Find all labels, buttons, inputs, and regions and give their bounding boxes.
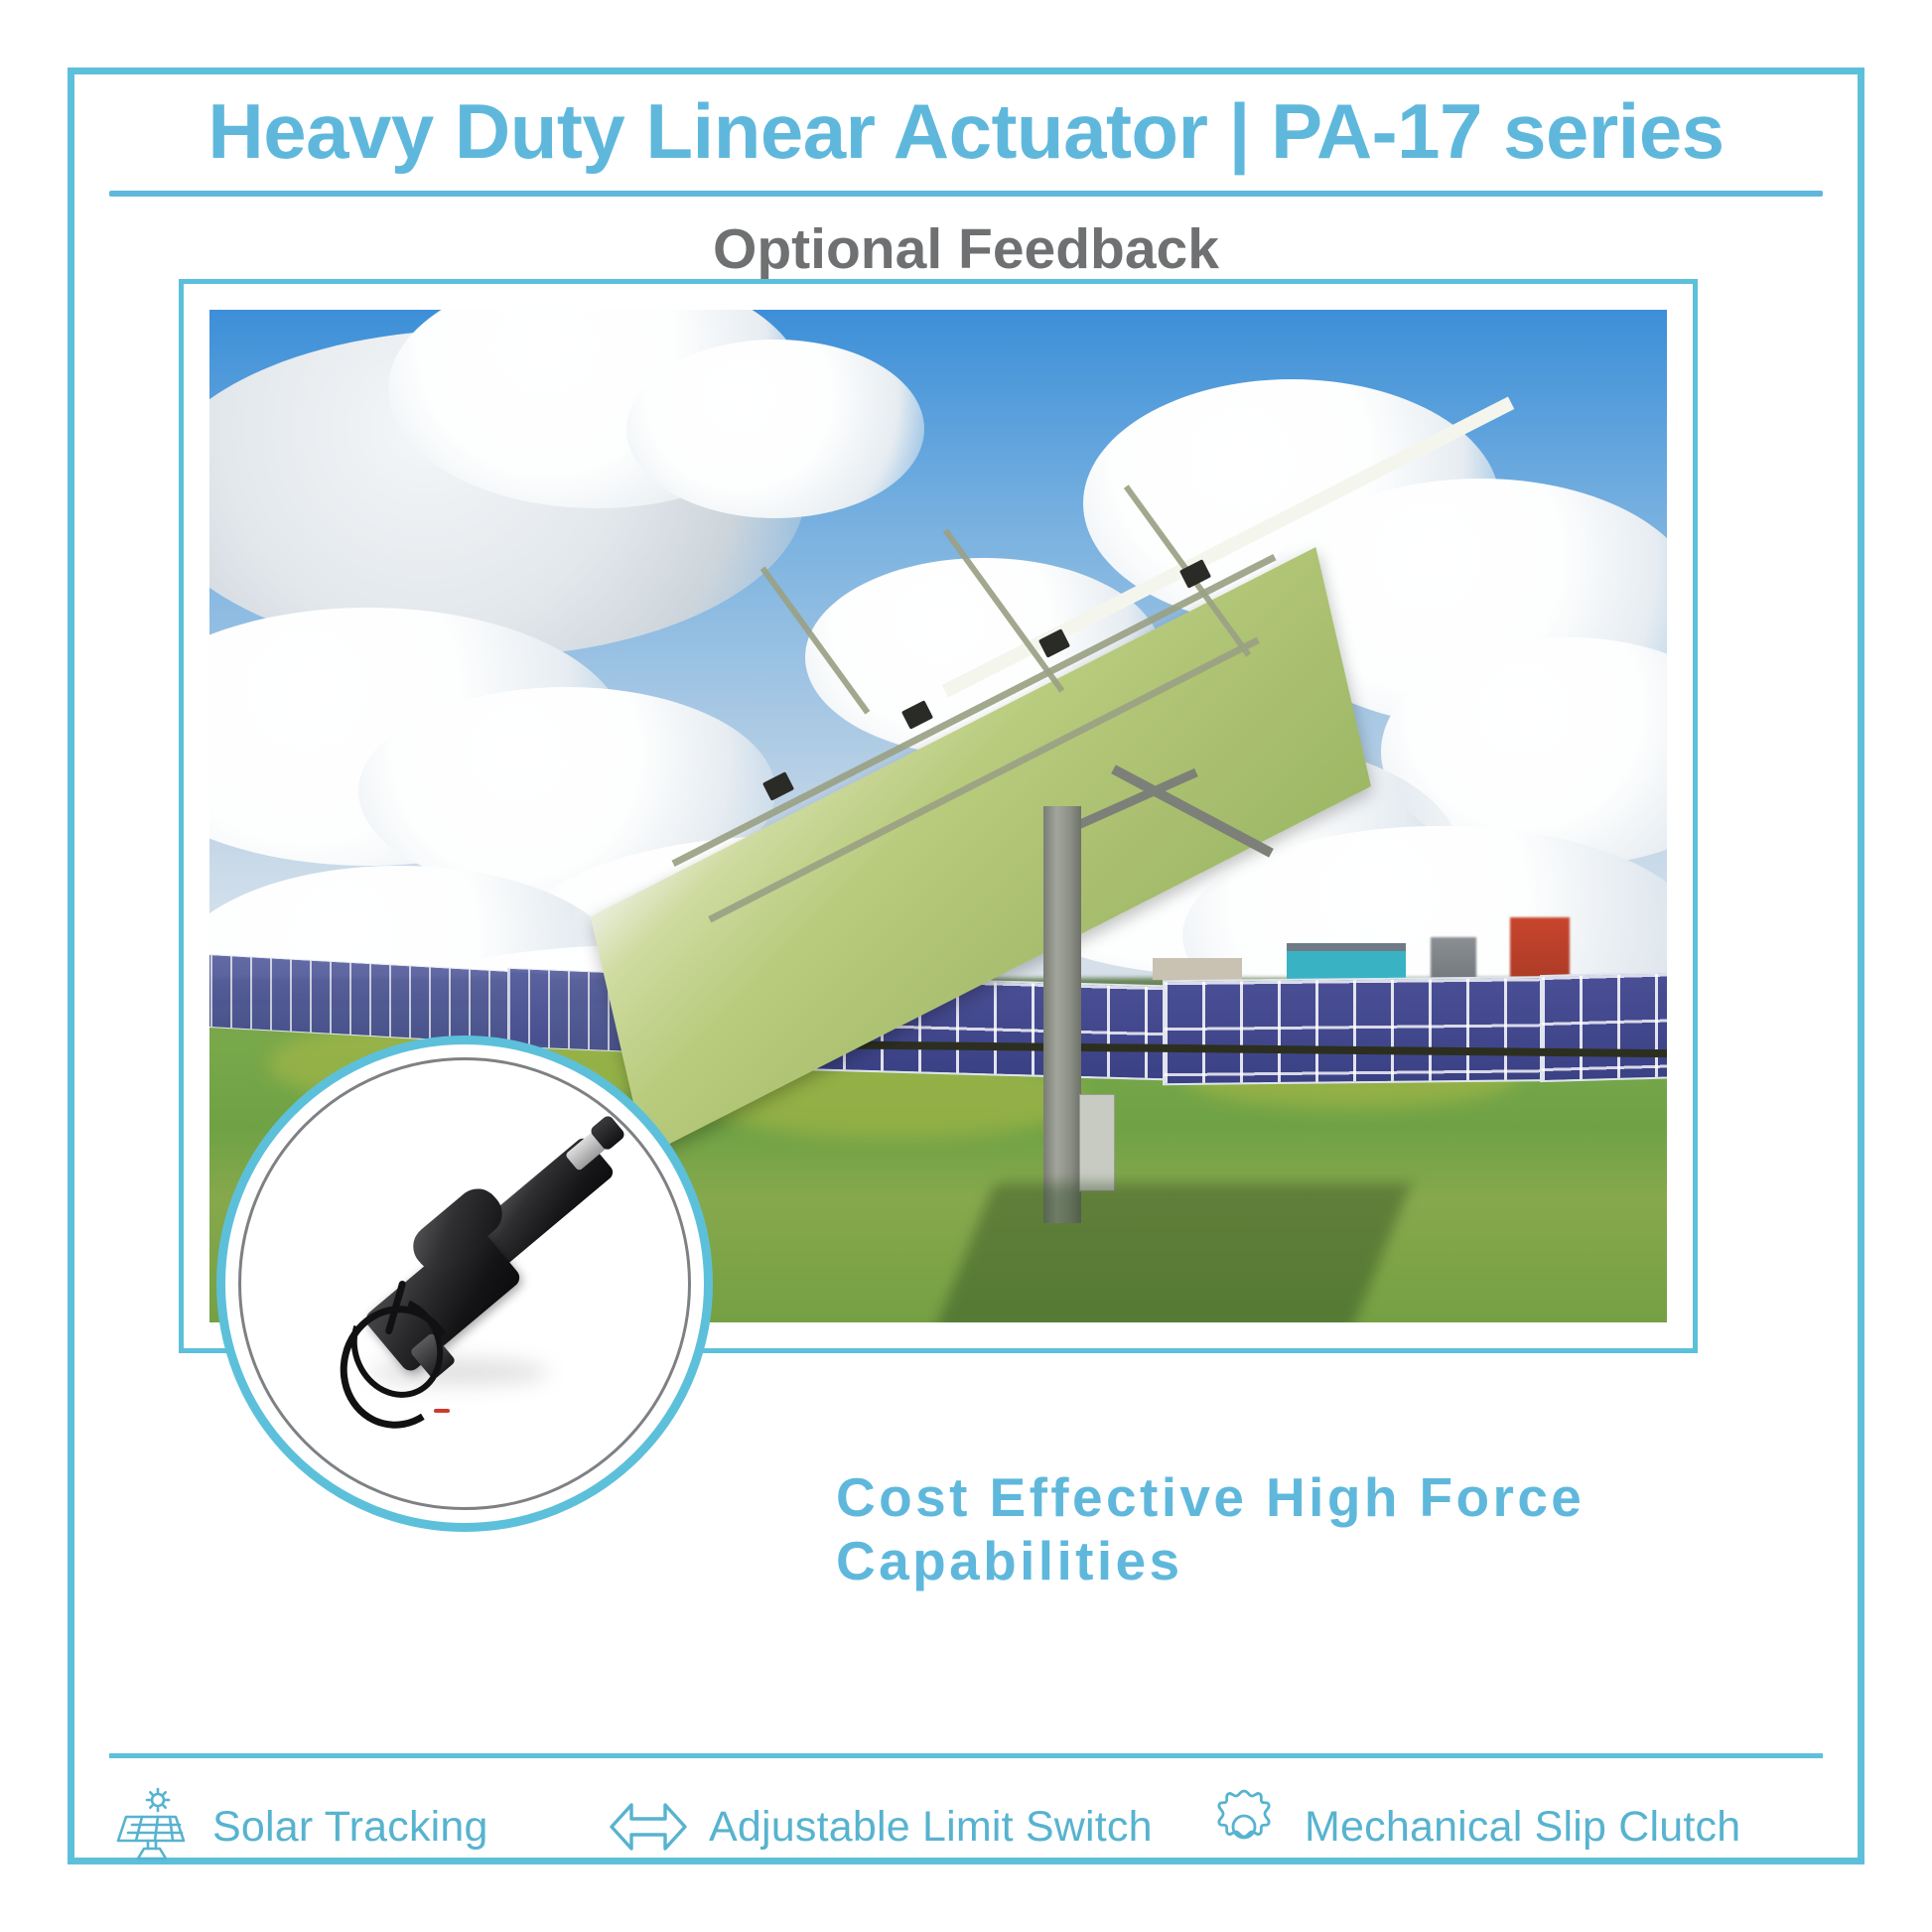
tracker-control-box <box>1079 1094 1115 1191</box>
page-title: Heavy Duty Linear Actuator | PA-17 serie… <box>109 91 1823 173</box>
pv-panel-row <box>1163 976 1584 1085</box>
page-subtitle: Optional Feedback <box>109 220 1823 280</box>
tagline-line-2: Capabilities <box>836 1530 1729 1593</box>
tagline: Cost Effective High Force Capabilities <box>836 1466 1729 1593</box>
feature-mechanical-slip-clutch: Mechanical Slip Clutch <box>1201 1784 1823 1869</box>
solar-panel-icon <box>109 1784 195 1869</box>
feature-bar: Solar Tracking Adjustable Limit Switch M… <box>109 1773 1823 1880</box>
header: Heavy Duty Linear Actuator | PA-17 serie… <box>109 91 1823 280</box>
double-arrow-icon <box>606 1784 691 1869</box>
tracker-shadow <box>934 1183 1412 1322</box>
feature-divider <box>109 1753 1823 1758</box>
cloud <box>626 340 924 518</box>
tracker-pole <box>1043 806 1081 1223</box>
feature-adjustable-limit-switch: Adjustable Limit Switch <box>606 1784 1201 1869</box>
title-divider <box>109 191 1823 197</box>
far-building <box>1153 958 1242 980</box>
feature-label: Solar Tracking <box>212 1803 488 1852</box>
feature-solar-tracking: Solar Tracking <box>109 1784 606 1869</box>
pv-panel-row <box>1540 969 1667 1082</box>
inset-inner-ring <box>238 1057 691 1510</box>
feature-label: Mechanical Slip Clutch <box>1305 1803 1740 1852</box>
product-inset <box>216 1035 713 1532</box>
feature-label: Adjustable Limit Switch <box>709 1803 1153 1852</box>
gear-icon <box>1201 1784 1287 1869</box>
product-banner: Heavy Duty Linear Actuator | PA-17 serie… <box>0 0 1932 1932</box>
tagline-line-1: Cost Effective High Force <box>836 1466 1729 1530</box>
